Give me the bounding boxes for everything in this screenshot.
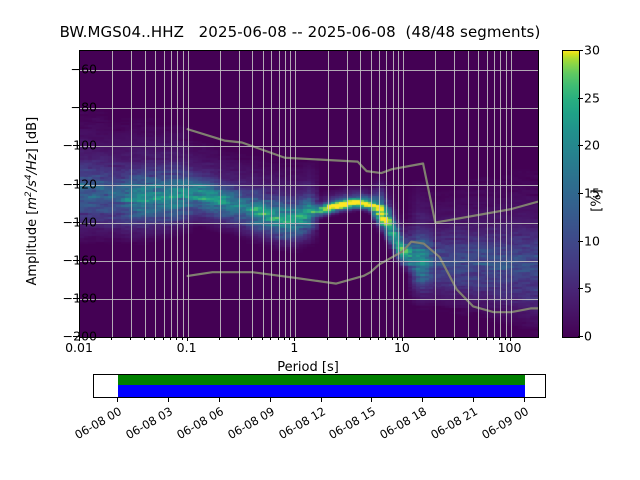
grid-line-vertical	[171, 51, 172, 337]
y-axis-unit-m: m	[25, 197, 40, 210]
colorbar-tick-mark	[578, 145, 583, 146]
x-axis-tick-mark	[79, 337, 80, 341]
x-axis-minor-tick	[130, 337, 131, 340]
grid-line-vertical	[279, 51, 280, 337]
x-axis-minor-tick	[434, 337, 435, 340]
timeline-tick-label: 06-08 12	[267, 404, 328, 447]
timeline-tick-mark	[168, 398, 169, 402]
x-axis-minor-tick	[219, 337, 220, 340]
y-axis-label-prefix: Amplitude [	[25, 210, 40, 286]
x-axis-minor-tick	[370, 337, 371, 340]
timeline-tick-mark	[270, 398, 271, 402]
grid-line-vertical	[398, 51, 399, 337]
x-axis-minor-tick	[270, 337, 271, 340]
x-axis-minor-tick	[289, 337, 290, 340]
x-axis-minor-tick	[327, 337, 328, 340]
noise-model-nhnm	[188, 129, 538, 222]
y-axis-exp-2: 2	[24, 191, 34, 197]
grid-line-vertical	[379, 51, 380, 337]
timeline-bar-blue	[118, 385, 525, 397]
y-axis-tick-mark	[73, 69, 79, 70]
grid-line-vertical	[112, 51, 113, 337]
x-axis-minor-tick	[477, 337, 478, 340]
x-axis-minor-tick	[170, 337, 171, 340]
grid-line-vertical	[435, 51, 436, 337]
x-axis-label: Period [s]	[79, 360, 537, 375]
x-axis-tick-label: 100	[498, 340, 522, 355]
colorbar-tick-mark	[578, 288, 583, 289]
x-axis-minor-tick	[505, 337, 506, 340]
colorbar-tick-label: 20	[584, 138, 600, 153]
y-axis-exp-4: 4	[24, 174, 34, 180]
timeline-bar-green	[118, 375, 525, 385]
x-axis-tick-mark	[402, 337, 403, 341]
grid-line-vertical	[188, 51, 189, 337]
grid-line-vertical	[131, 51, 132, 337]
x-axis-minor-tick	[163, 337, 164, 340]
x-axis-minor-tick	[144, 337, 145, 340]
y-axis-label: Amplitude [m2/s4/Hz] [dB]	[24, 81, 40, 321]
grid-line-vertical	[500, 51, 501, 337]
timeline-tick-mark	[321, 398, 322, 402]
y-axis-tick-mark	[73, 222, 79, 223]
x-axis-minor-tick	[251, 337, 252, 340]
x-axis-tick-label: 10	[394, 340, 410, 355]
timeline-tick-mark	[117, 398, 118, 402]
x-axis-minor-tick	[385, 337, 386, 340]
colorbar-label: [%]	[590, 171, 605, 231]
grid-line-vertical	[506, 51, 507, 337]
grid-line-vertical	[494, 51, 495, 337]
grid-line-horizontal	[80, 261, 538, 262]
x-axis-minor-tick	[392, 337, 393, 340]
y-axis-tick-mark	[73, 107, 79, 108]
timeline-tick-label: 06-08 15	[318, 404, 379, 447]
x-axis-minor-tick	[111, 337, 112, 340]
grid-line-vertical	[478, 51, 479, 337]
timeline-tick-mark	[219, 398, 220, 402]
ppsd-figure: BW.MGS04..HHZ 2025-06-08 -- 2025-06-08 (…	[0, 0, 640, 480]
grid-line-vertical	[295, 51, 296, 337]
x-axis-minor-tick	[182, 337, 183, 340]
x-axis-minor-tick	[262, 337, 263, 340]
grid-line-vertical	[220, 51, 221, 337]
grid-line-vertical	[360, 51, 361, 337]
timeline-axis[interactable]	[93, 374, 546, 398]
grid-line-vertical	[155, 51, 156, 337]
y-axis-unit-hz: /Hz	[25, 153, 40, 174]
x-axis-tick-mark	[187, 337, 188, 341]
y-axis-tick-label: −100	[63, 138, 97, 153]
grid-line-horizontal	[80, 185, 538, 186]
grid-line-vertical	[487, 51, 488, 337]
grid-line-vertical	[271, 51, 272, 337]
x-axis-tick-mark	[294, 337, 295, 341]
grid-line-vertical	[371, 51, 372, 337]
colorbar-tick-mark	[578, 50, 583, 51]
x-axis-tick-label: 0.1	[177, 340, 197, 355]
colorbar-tick-mark	[578, 241, 583, 242]
grid-line-vertical	[328, 51, 329, 337]
grid-line-horizontal	[80, 108, 538, 109]
timeline-tick-label: 06-08 21	[419, 404, 480, 447]
x-axis-minor-tick	[284, 337, 285, 340]
x-axis-minor-tick	[346, 337, 347, 340]
grid-line-vertical	[468, 51, 469, 337]
timeline-tick-mark	[371, 398, 372, 402]
timeline-tick-label: 06-09 00	[470, 404, 531, 447]
grid-line-vertical	[290, 51, 291, 337]
x-axis-minor-tick	[378, 337, 379, 340]
y-axis-tick-mark	[73, 260, 79, 261]
colorbar-tick-label: 30	[584, 43, 600, 58]
y-axis-tick-label: −180	[63, 290, 97, 305]
grid-line-vertical	[177, 51, 178, 337]
x-axis-minor-tick	[499, 337, 500, 340]
grid-line-vertical	[454, 51, 455, 337]
timeline-tick-label: 06-08 00	[63, 404, 124, 447]
grid-line-vertical	[183, 51, 184, 337]
timeline-tick-mark	[473, 398, 474, 402]
x-axis-tick-mark	[510, 337, 511, 341]
grid-line-vertical	[252, 51, 253, 337]
grid-line-vertical	[347, 51, 348, 337]
colorbar	[562, 50, 580, 338]
colorbar-tick-label: 5	[584, 281, 592, 296]
grid-line-vertical	[511, 51, 512, 337]
colorbar-tick-label: 15	[584, 186, 600, 201]
y-axis-tick-label: −120	[63, 176, 97, 191]
grid-line-horizontal	[80, 70, 538, 71]
y-axis-tick-label: −160	[63, 252, 97, 267]
grid-line-vertical	[393, 51, 394, 337]
timeline-tick-mark	[524, 398, 525, 402]
x-axis-minor-tick	[154, 337, 155, 340]
x-axis-minor-tick	[278, 337, 279, 340]
y-axis-label-suffix: ] [dB]	[25, 117, 40, 154]
timeline-tick-label: 06-08 03	[114, 404, 175, 447]
x-axis-tick-label: 1	[290, 340, 298, 355]
timeline-tick-mark	[422, 398, 423, 402]
x-axis-minor-tick	[176, 337, 177, 340]
noise-model-curves	[80, 51, 538, 337]
grid-line-vertical	[145, 51, 146, 337]
grid-line-vertical	[285, 51, 286, 337]
grid-line-horizontal	[80, 223, 538, 224]
x-axis-minor-tick	[453, 337, 454, 340]
grid-line-vertical	[164, 51, 165, 337]
noise-model-nlnm	[188, 242, 538, 313]
x-axis-minor-tick	[397, 337, 398, 340]
timeline-tick-label: 06-08 06	[165, 404, 226, 447]
x-axis-minor-tick	[238, 337, 239, 340]
grid-line-vertical	[403, 51, 404, 337]
colorbar-tick-mark	[578, 336, 583, 337]
grid-line-horizontal	[80, 299, 538, 300]
x-axis-minor-tick	[486, 337, 487, 340]
grid-line-vertical	[386, 51, 387, 337]
x-axis-minor-tick	[493, 337, 494, 340]
x-axis-minor-tick	[467, 337, 468, 340]
x-axis-tick-label: 0.01	[65, 340, 93, 355]
colorbar-tick-label: 25	[584, 90, 600, 105]
ppsd-plot-area[interactable]	[79, 50, 539, 338]
colorbar-tick-label: 10	[584, 233, 600, 248]
y-axis-tick-label: −140	[63, 214, 97, 229]
grid-line-vertical	[239, 51, 240, 337]
grid-line-vertical	[263, 51, 264, 337]
colorbar-tick-mark	[578, 193, 583, 194]
y-axis-unit-s: /s	[25, 180, 40, 191]
colorbar-tick-label: 0	[584, 329, 592, 344]
page-title: BW.MGS04..HHZ 2025-06-08 -- 2025-06-08 (…	[0, 23, 600, 41]
colorbar-tick-mark	[578, 98, 583, 99]
grid-line-horizontal	[80, 146, 538, 147]
timeline-tick-label: 06-08 09	[216, 404, 277, 447]
y-axis-tick-mark	[73, 298, 79, 299]
y-axis-tick-mark	[73, 145, 79, 146]
y-axis-tick-mark	[73, 184, 79, 185]
timeline-tick-label: 06-08 18	[369, 404, 430, 447]
x-axis-minor-tick	[359, 337, 360, 340]
